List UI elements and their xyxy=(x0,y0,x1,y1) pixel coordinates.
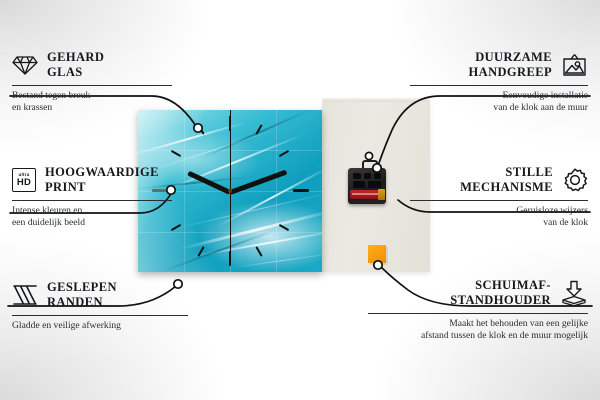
feature-desc-line2: en krassen xyxy=(12,102,188,115)
feature-title-line2: STANDHOUDER xyxy=(450,293,551,308)
feature-title: SCHUIMAF- STANDHOUDER xyxy=(450,278,551,309)
diamond-icon xyxy=(12,54,38,76)
feature-title: HOOGWAARDIGE PRINT xyxy=(45,165,159,196)
feature-desc-line2: van de klok xyxy=(410,217,588,230)
feature-desc-line2: afstand tussen de klok en de muur mogeli… xyxy=(368,330,588,343)
ultra-hd-icon-main-label: HD xyxy=(17,178,31,188)
feature-description: Eenvoudige installatie van de klok aan d… xyxy=(410,90,588,115)
feature-title: DUURZAME HANDGREEP xyxy=(469,50,552,81)
gear-icon xyxy=(562,167,588,193)
feature-description: Geruisloze wijzers van de klok xyxy=(410,205,588,230)
feature-title-line2: RANDEN xyxy=(47,295,117,310)
infographic-canvas: GEHARD GLAS Bestand tegen breuk en krass… xyxy=(0,0,600,400)
feature-divider xyxy=(12,315,188,316)
feature-title-line2: GLAS xyxy=(47,65,104,80)
feature-divider xyxy=(12,200,172,201)
feature-desc-line1: Bestand tegen breuk xyxy=(12,90,188,103)
feature-desc-line1: Eenvoudige installatie xyxy=(410,90,588,103)
feature-header: DUURZAME HANDGREEP xyxy=(410,50,588,81)
feature-desc-line2: een duidelijk beeld xyxy=(12,217,194,230)
feature-header: GESLEPEN RANDEN xyxy=(12,280,202,311)
connector-dot-gehard-glas xyxy=(194,124,202,132)
feature-title: GEHARD GLAS xyxy=(47,50,104,81)
arrow-down-stack-icon xyxy=(560,280,588,306)
feature-description: Bestand tegen breuk en krassen xyxy=(12,90,188,115)
feature-stille-mechanisme: STILLE MECHANISME Geruisloze wijzers van… xyxy=(410,165,588,230)
feature-description: Maakt het behouden van een gelijke afsta… xyxy=(368,318,588,343)
feature-header: STILLE MECHANISME xyxy=(410,165,588,196)
feature-description: Gladde en veilige afwerking xyxy=(12,320,202,333)
feature-divider xyxy=(410,200,588,201)
feature-desc-line2: van de klok aan de muur xyxy=(410,102,588,115)
feature-description: Intense kleuren en een duidelijk beeld xyxy=(12,205,194,230)
feature-title-line1: HOOGWAARDIGE xyxy=(45,165,159,180)
feature-header: ultra HD HOOGWAARDIGE PRINT xyxy=(12,165,194,196)
feature-header: GEHARD GLAS xyxy=(12,50,188,81)
feature-divider xyxy=(368,313,588,314)
feature-title-line2: PRINT xyxy=(45,180,159,195)
feature-title-line1: SCHUIMAF- xyxy=(450,278,551,293)
feature-title-line1: STILLE xyxy=(460,165,553,180)
feature-title: GESLEPEN RANDEN xyxy=(47,280,117,311)
feature-divider xyxy=(12,85,172,86)
connector-dot-mechanism-top xyxy=(365,152,372,159)
feature-desc-line1: Intense kleuren en xyxy=(12,205,194,218)
picture-frame-icon xyxy=(561,53,588,77)
feature-desc-line1: Maakt het behouden van een gelijke xyxy=(368,318,588,331)
diagonal-lines-icon xyxy=(12,284,38,306)
feature-duurzame-handgreep: DUURZAME HANDGREEP Eenvoudige installati… xyxy=(410,50,588,115)
connector-dot-schuimafstandhouder xyxy=(374,261,382,269)
feature-title-line2: MECHANISME xyxy=(460,180,553,195)
feature-gehard-glas: GEHARD GLAS Bestand tegen breuk en krass… xyxy=(12,50,188,115)
feature-hoogwaardige-print: ultra HD HOOGWAARDIGE PRINT Intense kleu… xyxy=(12,165,194,230)
feature-divider xyxy=(410,85,588,86)
feature-geslepen-randen: GESLEPEN RANDEN Gladde en veilige afwerk… xyxy=(12,280,202,332)
feature-desc-line1: Gladde en veilige afwerking xyxy=(12,320,202,333)
connector-dot-duurzame-handgreep xyxy=(373,164,381,172)
feature-header: SCHUIMAF- STANDHOUDER xyxy=(368,278,588,309)
feature-desc-line1: Geruisloze wijzers xyxy=(410,205,588,218)
feature-schuimafstandhouder: SCHUIMAF- STANDHOUDER Maakt het behouden… xyxy=(368,278,588,343)
ultra-hd-icon: ultra HD xyxy=(12,168,36,192)
feature-title-line1: DUURZAME xyxy=(469,50,552,65)
feature-title: STILLE MECHANISME xyxy=(460,165,553,196)
feature-title-line2: HANDGREEP xyxy=(469,65,552,80)
feature-title-line1: GEHARD xyxy=(47,50,104,65)
feature-title-line1: GESLEPEN xyxy=(47,280,117,295)
